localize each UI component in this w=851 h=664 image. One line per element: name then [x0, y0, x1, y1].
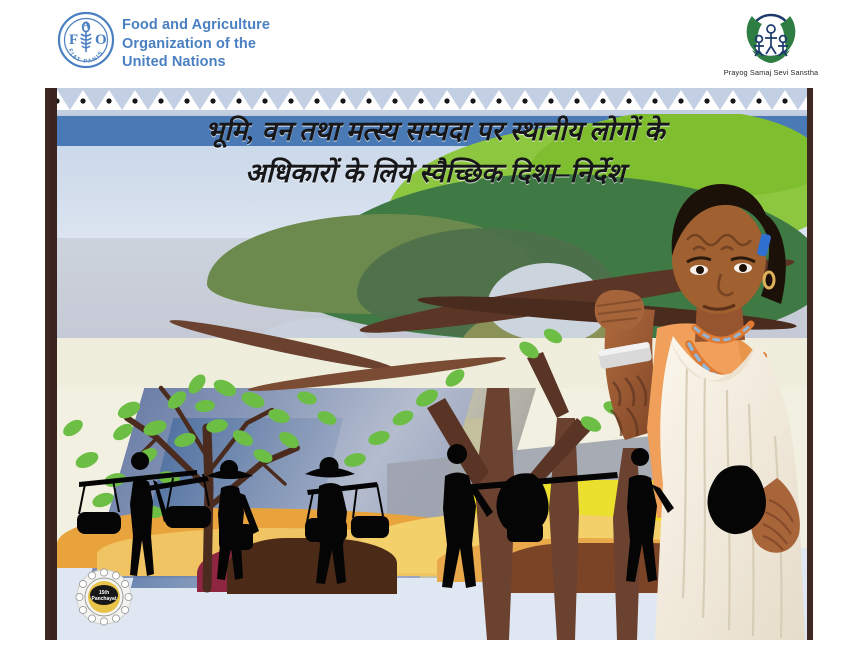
svg-text:Panchayat: Panchayat — [91, 596, 116, 602]
svg-text:O: O — [95, 32, 107, 48]
title-line-2: अधिकारों के लिये स्वैच्छिक दिशा–निर्देश — [57, 152, 813, 194]
fao-line-1: Food and Agriculture — [122, 16, 270, 35]
silhouette-porter-1 — [77, 452, 211, 576]
fao-line-2: Organization of the — [122, 35, 270, 54]
fao-line-3: United Nations — [122, 53, 270, 72]
hands-cradling-family-icon — [738, 6, 804, 68]
villager-silhouettes — [57, 418, 813, 640]
fao-wheat-emblem-icon: F A O FIAT PANIS — [57, 11, 115, 69]
silhouette-walker-4 — [442, 444, 493, 588]
ngo-caption: Prayog Samaj Sevi Sanstha — [716, 68, 826, 77]
poster-title: भूमि, वन तथा मत्स्य सम्पदा पर स्थानीय लो… — [57, 110, 813, 194]
silhouette-porter-3 — [305, 457, 389, 584]
circular-stamp-seal: 15th Panchayat — [75, 568, 133, 626]
poster-artwork: 15th Panchayat — [57, 88, 813, 640]
poster-frame: 15th Panchayat — [45, 88, 813, 640]
fao-wordmark: Food and Agriculture Organization of the… — [122, 16, 270, 72]
silhouette-walker-6 — [626, 448, 674, 582]
svg-text:F: F — [69, 32, 78, 48]
page-header: F A O FIAT PANIS Food and Agriculture Or… — [0, 0, 851, 88]
silhouette-bundle-7 — [707, 465, 765, 534]
title-line-1: भूमि, वन तथा मत्स्य सम्पदा पर स्थानीय लो… — [57, 110, 813, 152]
head — [672, 184, 786, 314]
svg-text:A: A — [82, 20, 90, 32]
ngo-logo: Prayog Samaj Sevi Sanstha — [716, 6, 826, 82]
silhouette-porter-2 — [207, 460, 259, 580]
